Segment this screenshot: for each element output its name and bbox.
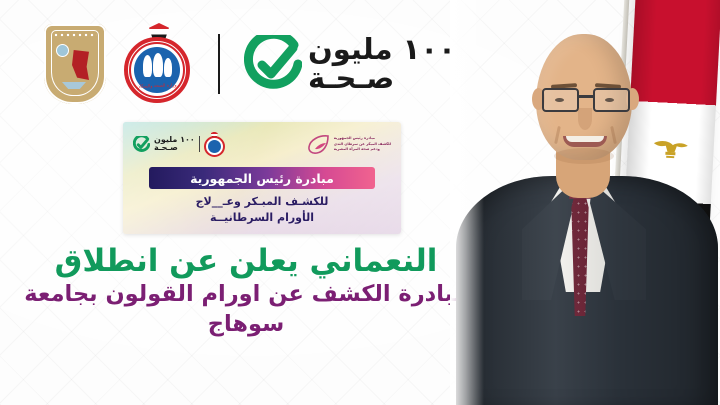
family-figure (143, 55, 152, 77)
green-check-circle-icon (244, 35, 302, 93)
crest-dots (53, 32, 97, 38)
teeth (566, 136, 604, 142)
card-campaign-wordmark: ١٠٠ مليون صـحـة (154, 136, 195, 152)
pink-caption-line: للكشف المبكر عن سرطان الثدي (334, 142, 391, 146)
logo-divider (218, 34, 220, 94)
portrait-left-fade (450, 0, 484, 405)
campaign-line-top: ١٠٠ مليون (308, 35, 456, 64)
pink-badge-caption: مبادرة رئيس الجمهورية للكشف المبكر عن سر… (334, 136, 391, 151)
initiative-card: ١٠٠ مليون صـحـة مبادرة رئيس الجمهورية لل… (123, 122, 401, 234)
chin-shading (554, 148, 614, 164)
card-logo-row: ١٠٠ مليون صـحـة مبادرة رئيس الجمهورية لل… (133, 129, 391, 159)
egypt-ministry-of-health-icon (204, 132, 226, 157)
nose (578, 108, 592, 130)
crest-orb (56, 44, 69, 57)
pink-caption-line: ودعم صحة المرأة المصرية (334, 147, 380, 151)
portrait-photo (450, 0, 720, 405)
card-subtitle: للكشـف المبـكر وعـ__لاج الأورام السرطاني… (123, 194, 401, 226)
card-banner: مبادرة رئيس الجمهورية (149, 167, 375, 189)
mouth (563, 136, 607, 147)
family-figure (153, 53, 163, 77)
ministry-caption: وزارة الصحة والسكان (125, 83, 190, 105)
mini-divider (199, 136, 200, 152)
person-figure (450, 0, 720, 405)
card-subtitle-line2: الأورام السرطانيــة (123, 210, 401, 226)
campaign-line-bottom: صـحـة (308, 64, 394, 93)
suit-shading (456, 176, 718, 405)
card-banner-text: مبادرة رئيس الجمهورية (190, 171, 334, 186)
glasses-bridge (579, 95, 593, 98)
card-moh-badge: ١٠٠ مليون صـحـة (133, 132, 226, 157)
logo-strip: وزارة الصحة والسكان ١٠٠ مليون صـحـة (44, 18, 456, 110)
green-check-circle-icon (133, 136, 150, 153)
mini-disc (208, 140, 221, 153)
card-campaign-line-bottom: صـحـة (154, 144, 178, 152)
card-pink-badge: مبادرة رئيس الجمهورية للكشف المبكر عن سر… (306, 133, 391, 155)
campaign-logo: ١٠٠ مليون صـحـة (244, 35, 456, 93)
poster-canvas: وزارة الصحة والسكان ١٠٠ مليون صـحـة (0, 0, 720, 405)
glasses-lens-right (593, 88, 630, 112)
pink-caption-line: مبادرة رئيس الجمهورية (334, 136, 375, 140)
campaign-wordmark: ١٠٠ مليون صـحـة (308, 35, 456, 93)
family-figure (164, 58, 172, 77)
egypt-ministry-of-health-icon: وزارة الصحة والسكان (122, 23, 196, 105)
sohag-governorate-crest-icon (44, 24, 106, 104)
glasses-lens-left (542, 88, 579, 112)
card-subtitle-line1: للكشـف المبـكر وعـ__لاج (123, 194, 401, 210)
pink-ribbon-breast-icon (306, 133, 330, 155)
